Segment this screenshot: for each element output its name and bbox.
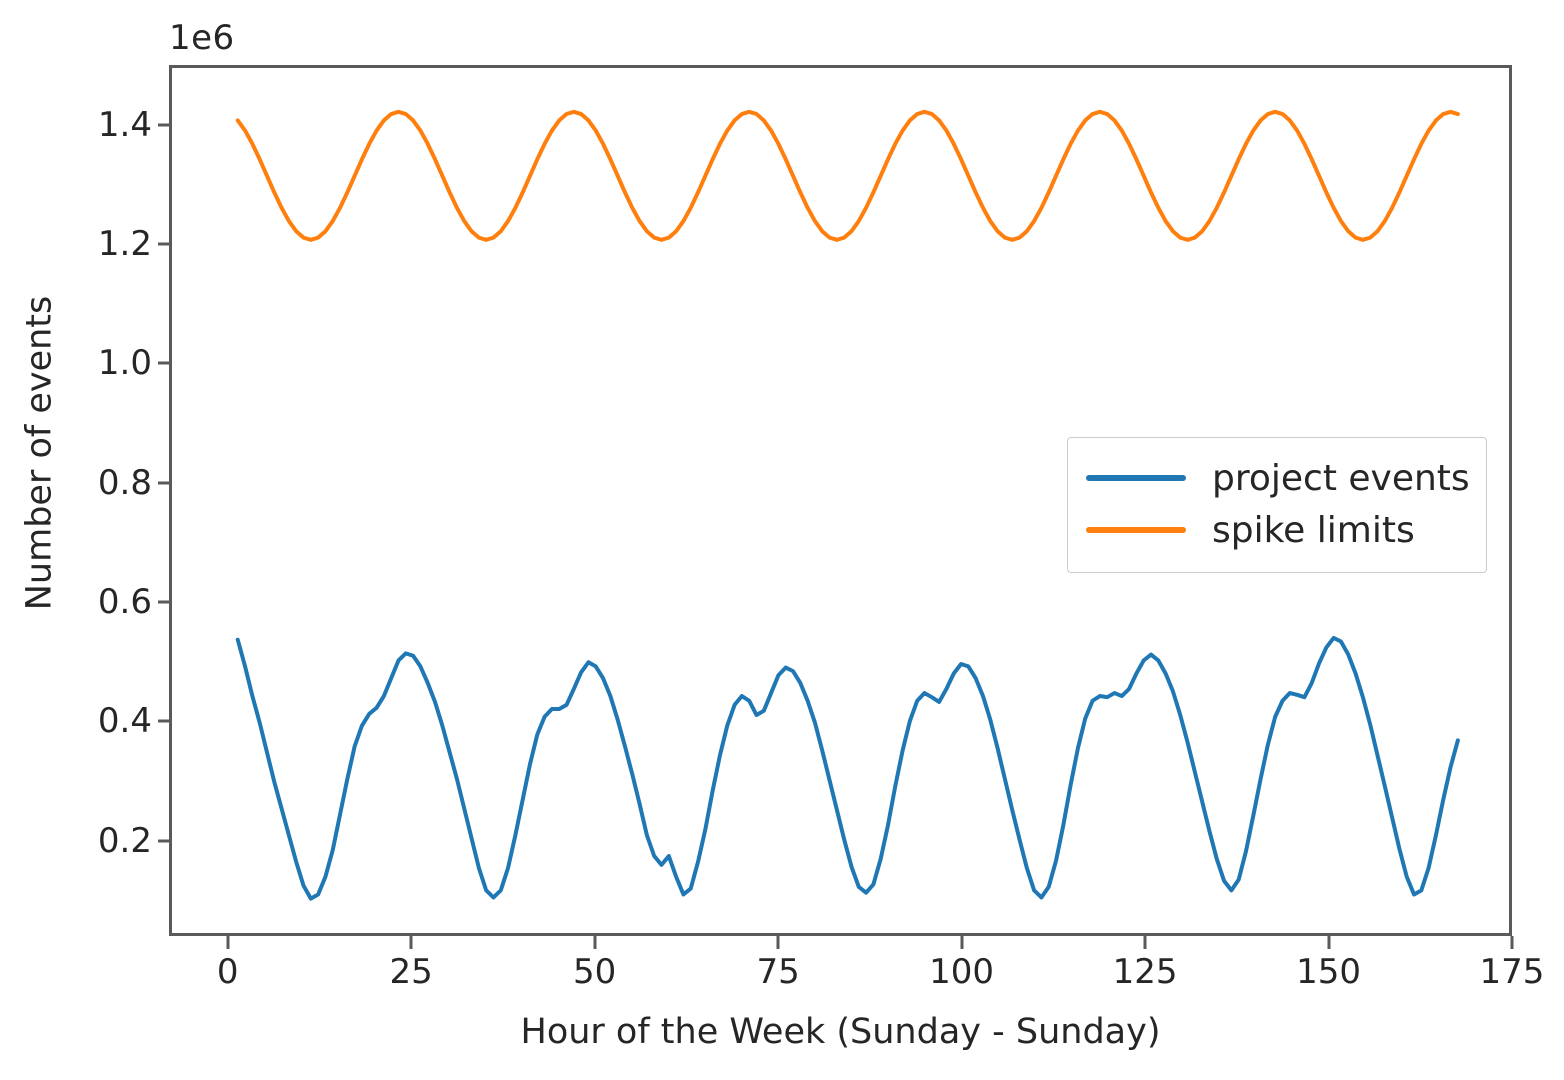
x-tick-label: 75 xyxy=(756,952,799,992)
y-axis-label-wrapper: Number of events xyxy=(16,18,64,889)
y-axis-offset-text: 1e6 xyxy=(169,18,235,58)
x-tick-mark xyxy=(1327,936,1330,949)
legend-swatch-spike-limits xyxy=(1086,527,1186,533)
x-tick-label: 100 xyxy=(929,952,994,992)
series-line-spike-limits xyxy=(238,112,1458,240)
x-tick-mark xyxy=(1144,936,1147,949)
x-tick-mark xyxy=(226,936,229,949)
legend-label-project-events: project events xyxy=(1212,458,1470,499)
x-axis-label: Hour of the Week (Sunday - Sunday) xyxy=(169,1012,1512,1052)
x-tick-label: 25 xyxy=(390,952,433,992)
legend-swatch-project-events xyxy=(1086,475,1186,481)
x-tick-label: 125 xyxy=(1113,952,1178,992)
x-tick-mark xyxy=(593,936,596,949)
legend-item-project-events[interactable]: project events xyxy=(1086,452,1468,504)
x-axis-tick-labels: 0255075100125150175 xyxy=(169,952,1512,1004)
chart-figure: 1e6 0.20.40.60.81.01.21.4 02550751001251… xyxy=(0,0,1564,1080)
x-tick-label: 150 xyxy=(1296,952,1361,992)
x-tick-mark xyxy=(410,936,413,949)
x-tick-label: 50 xyxy=(573,952,616,992)
x-axis-tick-marks xyxy=(169,936,1512,952)
legend-label-spike-limits: spike limits xyxy=(1212,510,1415,551)
x-tick-mark xyxy=(960,936,963,949)
legend-item-spike-limits[interactable]: spike limits xyxy=(1086,504,1468,556)
series-line-project-events xyxy=(238,638,1458,899)
chart-legend: project events spike limits xyxy=(1067,437,1487,573)
x-tick-label: 175 xyxy=(1480,952,1545,992)
y-axis-label: Number of events xyxy=(16,18,64,889)
x-tick-label: 0 xyxy=(217,952,239,992)
x-tick-mark xyxy=(777,936,780,949)
x-tick-mark xyxy=(1511,936,1514,949)
